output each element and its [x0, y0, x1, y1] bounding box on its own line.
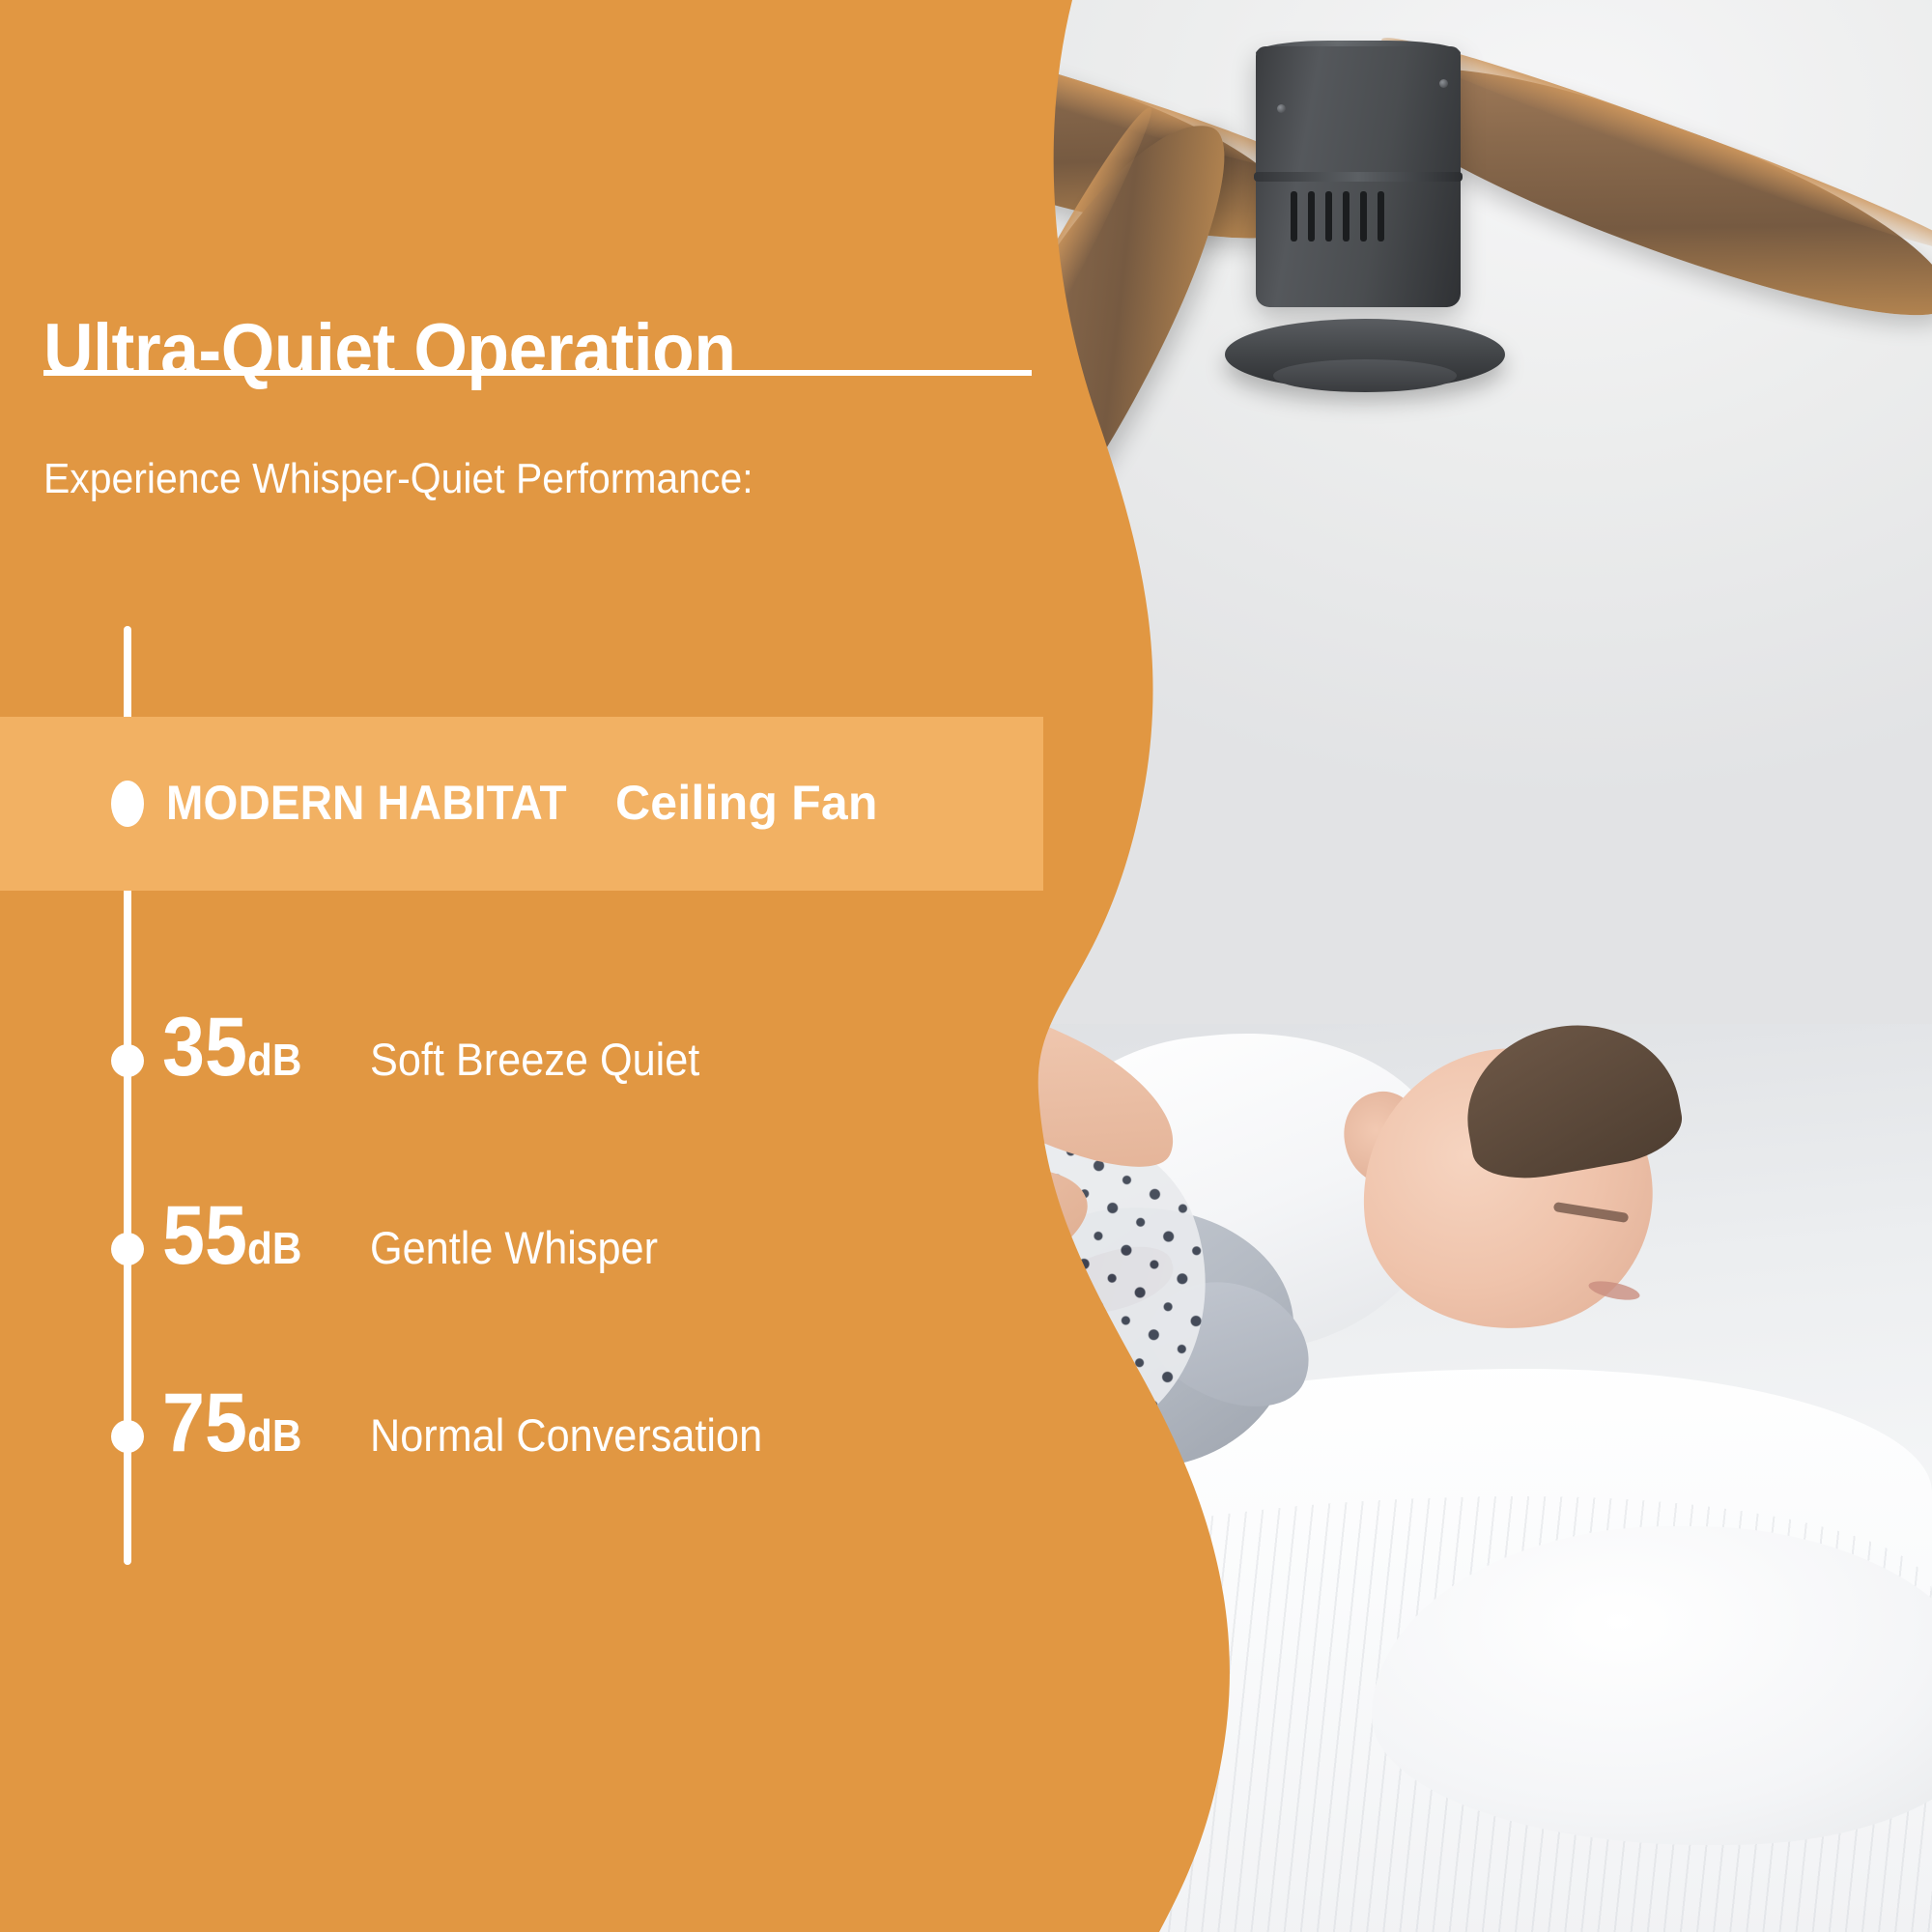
- motor-screw: [1277, 104, 1286, 113]
- db-label-2: Normal Conversation: [370, 1408, 762, 1462]
- fan-hub-lens: [1273, 359, 1457, 392]
- vent-slot: [1291, 191, 1297, 241]
- db-value-1: 55dB: [162, 1194, 301, 1277]
- vent-slot: [1360, 191, 1367, 241]
- db-unit-0: dB: [247, 1035, 301, 1085]
- timeline-dot-product: [111, 781, 144, 827]
- db-value-0: 35dB: [162, 1006, 301, 1089]
- db-value-2: 75dB: [162, 1381, 301, 1464]
- vent-slot: [1343, 191, 1350, 241]
- timeline-dot-2: [111, 1420, 144, 1453]
- timeline-dot-1: [111, 1233, 144, 1265]
- page-title: Ultra-Quiet Operation: [43, 308, 736, 392]
- db-label-0: Soft Breeze Quiet: [370, 1033, 699, 1086]
- motor-screw: [1439, 79, 1448, 88]
- db-unit-2: dB: [247, 1410, 301, 1461]
- vent-slot: [1308, 191, 1315, 241]
- db-number-0: 35: [162, 1001, 247, 1094]
- product-brand: MODERN HABITAT: [166, 775, 567, 831]
- baby-hair: [1454, 1024, 1689, 1188]
- vent-slot: [1325, 191, 1332, 241]
- product-type: Ceiling Fan: [602, 776, 878, 830]
- db-number-2: 75: [162, 1377, 247, 1469]
- db-number-1: 55: [162, 1189, 247, 1282]
- page-subtitle: Experience Whisper-Quiet Performance:: [43, 455, 753, 503]
- motor-seam-ring: [1254, 172, 1463, 182]
- product-name: MODERN HABITAT Ceiling Fan: [166, 775, 878, 831]
- motor-vent-slots: [1291, 191, 1406, 241]
- timeline-dot-0: [111, 1044, 144, 1077]
- db-unit-1: dB: [247, 1223, 301, 1273]
- vent-slot: [1378, 191, 1384, 241]
- db-label-1: Gentle Whisper: [370, 1221, 658, 1274]
- title-divider: [43, 370, 1032, 376]
- infographic-root: Ultra-Quiet Operation Experience Whisper…: [0, 0, 1932, 1932]
